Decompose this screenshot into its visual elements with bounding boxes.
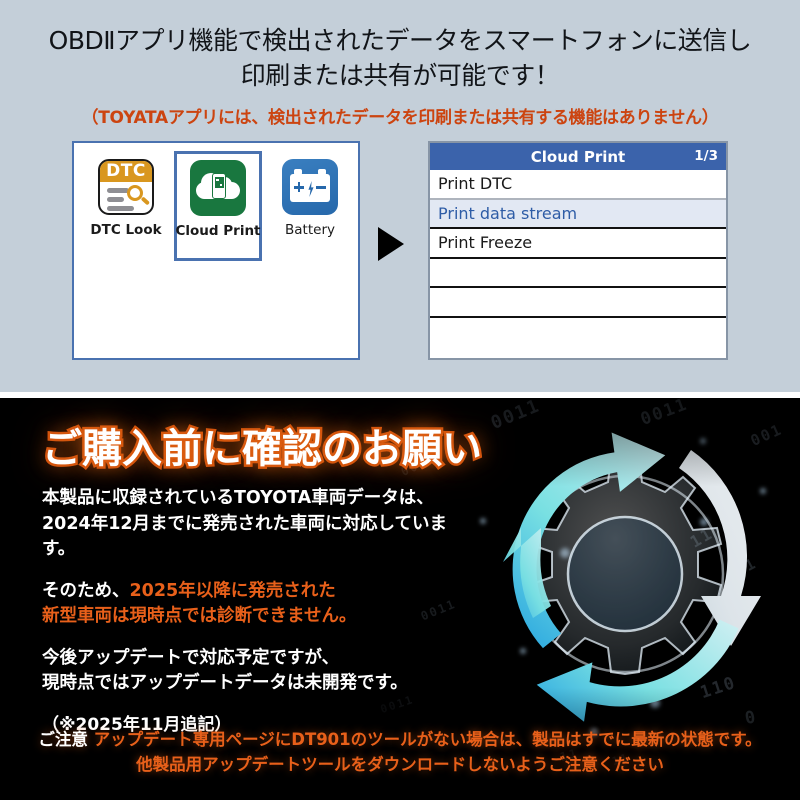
banner-p1-line1: 本製品に収録されているTOYOTA車両データは、 (42, 488, 434, 508)
headline: OBDⅡアプリ機能で検出されたデータをスマートフォンに送信し 印刷または共有が可… (0, 24, 800, 93)
feature-section: OBDⅡアプリ機能で検出されたデータをスマートフォンに送信し 印刷または共有が可… (0, 0, 800, 392)
play-arrow-icon (378, 227, 404, 261)
cloud-print-icon (190, 160, 246, 216)
device-title: Cloud Print (531, 148, 625, 166)
battery-icon (282, 159, 338, 215)
banner-p2-prefix: そのため、 (42, 581, 130, 601)
banner-p1-line2: 2024年12月までに発売された車両に対応しています。 (42, 514, 447, 560)
menu-item-print-dtc[interactable]: Print DTC (430, 170, 726, 200)
headline-line-1: OBDⅡアプリ機能で検出されたデータをスマートフォンに送信し (49, 26, 752, 55)
menu-item-print-freeze[interactable]: Print Freeze (430, 229, 726, 259)
notice-banner: 0011001100110011001111111001100011110001… (0, 398, 800, 800)
device-page-indicator: 1/3 (694, 148, 718, 164)
promo-page: OBDⅡアプリ機能で検出されたデータをスマートフォンに送信し 印刷または共有が可… (0, 0, 800, 800)
banner-p2-orange2: 新型車両は現時点では診断できません。 (42, 606, 356, 626)
banner-footer: ご注意 アップデート専用ページにDT901のツールがない場合は、製品はすでに最新… (0, 728, 800, 778)
banner-p2-orange1: 2025年以降に発売された (130, 581, 336, 601)
menu-item-empty-3[interactable] (430, 318, 726, 348)
banner-paragraph-2: そのため、2025年以降に発売された 新型車両は現時点では診断できません。 (42, 579, 472, 630)
menu-item-empty-2[interactable] (430, 288, 726, 318)
banner-p3-line1: 今後アップデートで対応予定ですが、 (42, 648, 339, 668)
banner-footer-line-1: ご注意 アップデート専用ページにDT901のツールがない場合は、製品はすでに最新… (0, 728, 800, 753)
app-cell-dtc-look[interactable]: DTC DTC Look (82, 151, 170, 238)
banner-footer-label: ご注意 (38, 730, 88, 749)
device-screen: Cloud Print 1/3 Print DTC Print data str… (428, 141, 728, 360)
dtc-icon-text: DTC (106, 161, 146, 181)
app-label-dtc-look: DTC Look (90, 222, 161, 238)
headline-line-2: 印刷または共有が可能です！ (0, 59, 800, 94)
app-row: DTC DTC Look Cloud Print (74, 151, 362, 271)
menu-item-empty-1[interactable] (430, 259, 726, 289)
app-grid-panel: DTC DTC Look Cloud Print (72, 141, 360, 360)
banner-paragraph-1: 本製品に収録されているTOYOTA車両データは、 2024年12月までに発売され… (42, 486, 472, 563)
dtc-look-icon: DTC (98, 159, 154, 215)
app-label-battery: Battery (285, 222, 335, 238)
banner-paragraph-3: 今後アップデートで対応予定ですが、 現時点ではアップデートデータは未開発です。 (42, 646, 472, 697)
subline-note: （TOYATAアプリには、検出されたデータを印刷または共有する機能はありません） (0, 103, 800, 128)
app-cell-cloud-print[interactable]: Cloud Print (174, 151, 262, 261)
banner-footer-text-1: アップデート専用ページにDT901のツールがない場合は、製品はすでに最新の状態で… (94, 730, 762, 749)
device-header: Cloud Print 1/3 (430, 143, 726, 170)
device-menu-list: Print DTC Print data stream Print Freeze (430, 170, 726, 347)
banner-footer-line-2: 他製品用アップデートツールをダウンロードしないようご注意ください (0, 753, 800, 778)
app-cell-battery[interactable]: Battery (266, 151, 354, 238)
app-label-cloud-print: Cloud Print (175, 223, 260, 239)
banner-title: ご購入前に確認のお願い (42, 416, 482, 474)
banner-p3-line2: 現時点ではアップデートデータは未開発です。 (42, 673, 408, 693)
banner-body: 本製品に収録されているTOYOTA車両データは、 2024年12月までに発売され… (42, 486, 472, 754)
menu-item-print-data-stream[interactable]: Print data stream (430, 200, 726, 230)
